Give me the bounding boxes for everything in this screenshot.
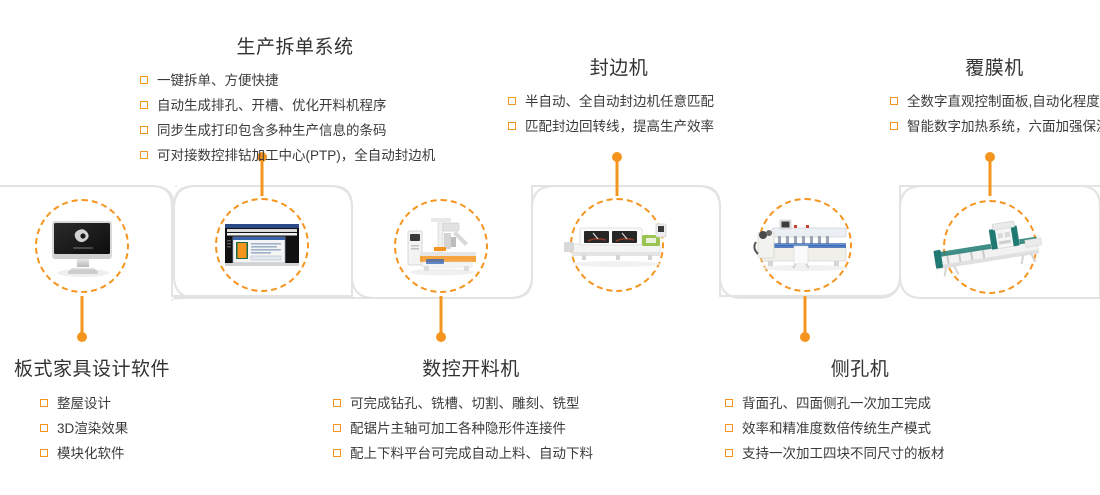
process-flow-diagram: 生产拆单系统 一键拆单、方便快捷 自动生成排孔、开槽、优化开料机程序 同步生成打…	[0, 0, 1100, 495]
list-item: 智能数字加热系统，六面加强保温	[890, 114, 1100, 139]
text-block-edge-banding-machine: 封边机 半自动、全自动封边机任意匹配 匹配封边回转线，提高生产效率	[508, 57, 738, 139]
list-item: 一键拆单、方便快捷	[140, 68, 460, 93]
checkbox-bullet-icon	[333, 424, 341, 432]
checkbox-bullet-icon	[140, 126, 148, 134]
block-title: 生产拆单系统	[130, 36, 460, 60]
feature-list: 背面孔、四面侧孔一次加工完成 效率和精准度数倍传统生产模式 支持一次加工四块不同…	[725, 391, 1005, 466]
feature-list: 全数字直观控制面板,自动化程度高 智能数字加热系统，六面加强保温	[890, 89, 1100, 139]
cnc-router-machine-icon	[398, 203, 484, 289]
checkbox-bullet-icon	[508, 97, 516, 105]
list-item: 配锯片主轴可加工各种隐形件连接件	[333, 416, 623, 441]
list-item: 配上下料平台可完成自动上料、自动下料	[333, 441, 623, 466]
side-drill-machine-icon	[762, 202, 848, 288]
checkbox-bullet-icon	[40, 424, 48, 432]
node-side-drill-machine[interactable]	[758, 198, 852, 292]
text-block-design-software: 板式家具设计软件 整屋设计 3D渲染效果 模块化软件	[14, 358, 244, 466]
checkbox-bullet-icon	[725, 449, 733, 457]
node-edge-banding-machine[interactable]	[570, 198, 664, 292]
node-order-split-software[interactable]	[215, 198, 309, 292]
text-block-cnc-cutting-machine: 数控开料机 可完成钻孔、铣槽、切割、雕刻、铣型 配锯片主轴可加工各种隐形件连接件…	[333, 358, 623, 466]
feature-list: 可完成钻孔、铣槽、切割、雕刻、铣型 配锯片主轴可加工各种隐形件连接件 配上下料平…	[333, 391, 623, 466]
checkbox-bullet-icon	[725, 424, 733, 432]
imac-computer-icon	[39, 203, 125, 289]
text-block-order-split-system: 生产拆单系统 一键拆单、方便快捷 自动生成排孔、开槽、优化开料机程序 同步生成打…	[140, 36, 460, 168]
node-cnc-cutting-machine[interactable]	[394, 199, 488, 293]
list-item: 模块化软件	[40, 441, 244, 466]
feature-list: 整屋设计 3D渲染效果 模块化软件	[40, 391, 244, 466]
list-item: 可完成钻孔、铣槽、切割、雕刻、铣型	[333, 391, 623, 416]
list-item: 背面孔、四面侧孔一次加工完成	[725, 391, 1005, 416]
checkbox-bullet-icon	[333, 449, 341, 457]
checkbox-bullet-icon	[725, 399, 733, 407]
checkbox-bullet-icon	[140, 101, 148, 109]
list-item: 3D渲染效果	[40, 416, 244, 441]
checkbox-bullet-icon	[40, 399, 48, 407]
list-item: 半自动、全自动封边机任意匹配	[508, 89, 738, 114]
list-item: 同步生成打印包含多种生产信息的条码	[140, 118, 460, 143]
checkbox-bullet-icon	[508, 122, 516, 130]
block-title: 数控开料机	[319, 358, 623, 382]
feature-list: 半自动、全自动封边机任意匹配 匹配封边回转线，提高生产效率	[508, 89, 738, 139]
checkbox-bullet-icon	[40, 449, 48, 457]
block-title: 封边机	[500, 57, 738, 81]
list-item: 可对接数控排钻加工中心(PTP)，全自动封边机	[140, 143, 460, 168]
block-title: 覆膜机	[884, 57, 1100, 81]
checkbox-bullet-icon	[140, 76, 148, 84]
list-item: 支持一次加工四块不同尺寸的板材	[725, 441, 1005, 466]
node-laminating-machine[interactable]	[943, 200, 1037, 294]
checkbox-bullet-icon	[333, 399, 341, 407]
block-title: 板式家具设计软件	[14, 358, 244, 382]
list-item: 全数字直观控制面板,自动化程度高	[890, 89, 1100, 114]
checkbox-bullet-icon	[890, 97, 898, 105]
checkbox-bullet-icon	[890, 122, 898, 130]
text-block-side-drill-machine: 侧孔机 背面孔、四面侧孔一次加工完成 效率和精准度数倍传统生产模式 支持一次加工…	[725, 358, 1005, 466]
checkbox-bullet-icon	[140, 151, 148, 159]
text-block-laminating-machine: 覆膜机 全数字直观控制面板,自动化程度高 智能数字加热系统，六面加强保温	[890, 57, 1100, 139]
software-screenshot-icon	[219, 202, 305, 288]
list-item: 自动生成排孔、开槽、优化开料机程序	[140, 93, 460, 118]
list-item: 匹配封边回转线，提高生产效率	[508, 114, 738, 139]
node-design-software[interactable]	[35, 199, 129, 293]
feature-list: 一键拆单、方便快捷 自动生成排孔、开槽、优化开料机程序 同步生成打印包含多种生产…	[140, 68, 460, 168]
block-title: 侧孔机	[715, 358, 1005, 382]
laminating-machine-icon	[947, 204, 1033, 290]
list-item: 效率和精准度数倍传统生产模式	[725, 416, 1005, 441]
edge-banding-machine-icon	[574, 202, 660, 288]
list-item: 整屋设计	[40, 391, 244, 416]
